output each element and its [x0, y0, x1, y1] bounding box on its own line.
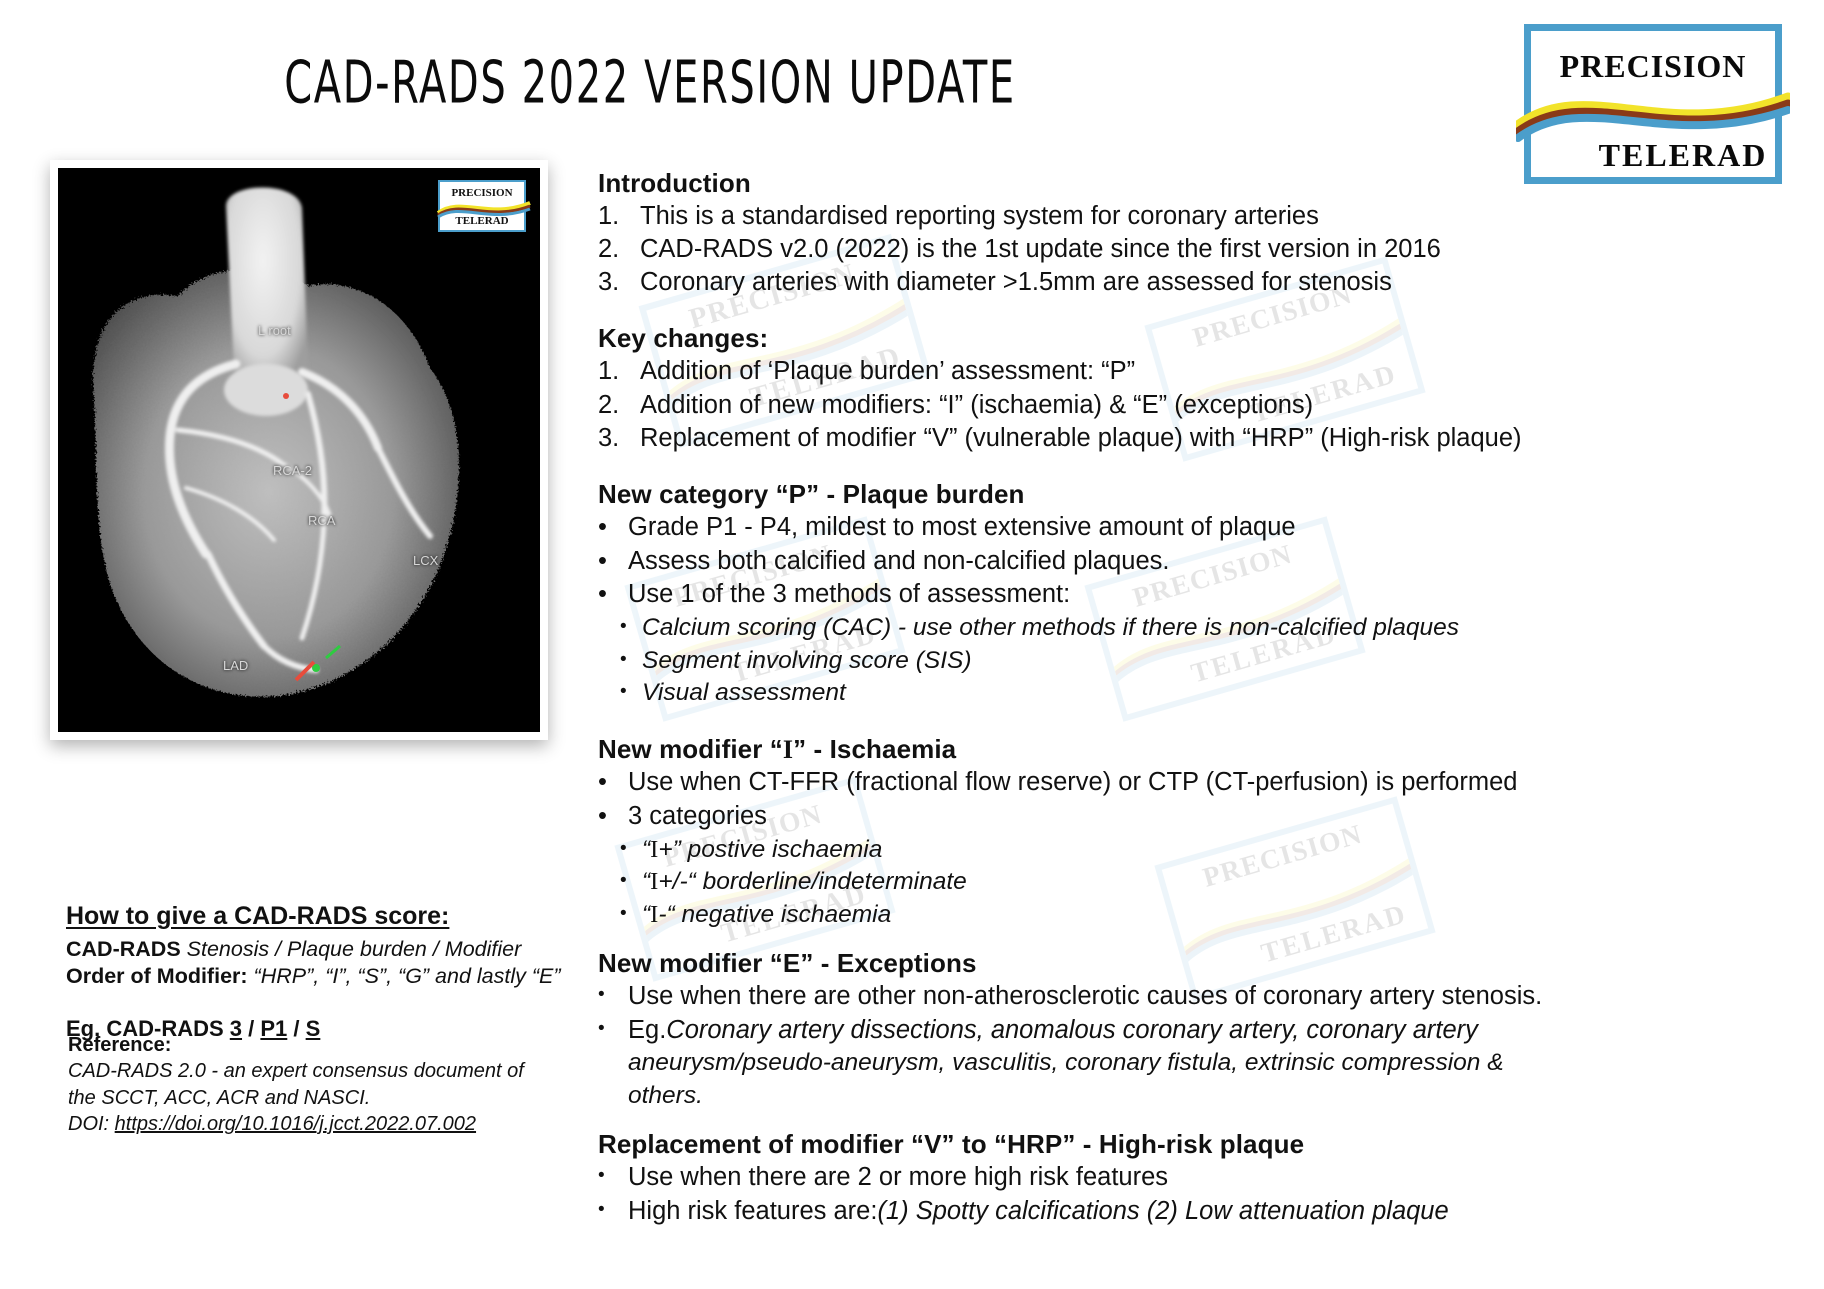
item-number: 1.: [598, 200, 640, 233]
item-text: 3 categories: [628, 800, 767, 834]
item-number: 1.: [598, 355, 640, 388]
list-item: •Use when there are 2 or more high risk …: [598, 1161, 1788, 1195]
ct-logo-badge: PRECISION TELERAD: [438, 180, 526, 232]
bullet-icon: •: [598, 1161, 628, 1191]
item-text: Addition of ‘Plaque burden’ assessment: …: [640, 355, 1135, 388]
item-text: Use when there are 2 or more high risk f…: [628, 1161, 1168, 1195]
sub-list-item: •“I-“ negative ischaemia: [598, 899, 1788, 932]
bullet-icon: •: [620, 645, 642, 674]
logo-top-text: PRECISION: [1524, 48, 1782, 85]
item-text: Replacement of modifier “V” (vulnerable …: [640, 422, 1522, 455]
list-item: 3.Replacement of modifier “V” (vulnerabl…: [598, 422, 1788, 455]
bullet-icon: •: [598, 511, 628, 545]
page-title: CAD-RADS 2022 VERSION UPDATE: [130, 48, 1170, 116]
reference-heading: Reference:: [68, 1032, 598, 1058]
list-item: •Use when there are other non-atheroscle…: [598, 980, 1788, 1014]
bullet-icon: •: [598, 980, 628, 1010]
item-text: Assess both calcified and non-calcified …: [628, 545, 1170, 579]
sub-list-item: •Visual assessment: [598, 677, 1788, 710]
sub-list-item: •“I+” postive ischaemia: [598, 834, 1788, 867]
item-text: Coronary arteries with diameter >1.5mm a…: [640, 266, 1392, 299]
list-item: •High risk features are: (1) Spotty calc…: [598, 1195, 1788, 1229]
item-text: Visual assessment: [642, 677, 846, 710]
bullet-icon: •: [620, 834, 642, 863]
heading-modifier-letter: I: [783, 735, 793, 764]
doi-label: DOI:: [68, 1113, 115, 1135]
sub-list-item: •Segment involving score (SIS): [598, 645, 1788, 678]
bullet-icon: •: [620, 866, 642, 895]
item-number: 2.: [598, 389, 640, 422]
bullet-icon: •: [620, 899, 642, 928]
item-text: Segment involving score (SIS): [642, 645, 972, 678]
item-text: CAD-RADS v2.0 (2022) is the 1st update s…: [640, 233, 1441, 266]
spacer: [598, 459, 1788, 479]
label-rca-2: RCA-2: [273, 463, 312, 478]
section-heading: Key changes:: [598, 323, 1788, 354]
item-text: Addition of new modifiers: “I” (ischaemi…: [640, 389, 1313, 422]
howto-line2-italic: “HRP”, “I”, “S”, “G” and lastly “E”: [254, 964, 561, 988]
label-lcx: LCX: [413, 553, 438, 568]
list-item: •Use when CT-FFR (fractional flow reserv…: [598, 766, 1788, 800]
list-item: 3.Coronary arteries with diameter >1.5mm…: [598, 266, 1788, 299]
list-item: •3 categories: [598, 800, 1788, 834]
ct-badge-bottom-text: TELERAD: [440, 215, 524, 227]
howto-line-1: CAD-RADS Stenosis / Plaque burden / Modi…: [66, 936, 586, 964]
list-item: •Eg. Coronary artery dissections, anomal…: [598, 1014, 1788, 1048]
item-continuation: aneurysm/pseudo-aneurysm, vasculitis, co…: [598, 1047, 1788, 1080]
section-heading: New category “P” - Plaque burden: [598, 479, 1788, 510]
doi-link[interactable]: https://doi.org/10.1016/j.jcct.2022.07.0…: [115, 1113, 476, 1135]
section-high-risk-plaque: Replacement of modifier “V” to “HRP” - H…: [598, 1129, 1788, 1228]
item-quote-open: “: [642, 834, 650, 867]
item-quote-open: “: [642, 899, 650, 932]
spacer: [598, 1117, 1788, 1129]
section-plaque-burden: New category “P” - Plaque burden •Grade …: [598, 479, 1788, 710]
label-lad: LAD: [223, 658, 248, 673]
bullet-icon: •: [620, 677, 642, 706]
reference-line-2: the SCCT, ACC, ACR and NASCI.: [68, 1085, 598, 1111]
section-heading: New modifier “E” - Exceptions: [598, 948, 1788, 979]
reference-block: Reference: CAD-RADS 2.0 - an expert cons…: [68, 1032, 598, 1138]
heading-post: ” - Ischaemia: [793, 734, 956, 764]
ct-scan-image: L root RCA-2 RCA LCX LAD PRECISION TELER…: [58, 168, 540, 732]
content-column: Introduction 1.This is a standardised re…: [598, 168, 1788, 1232]
item-label: Eg.: [628, 1014, 666, 1048]
bullet-icon: •: [598, 545, 628, 579]
item-text: +/-“ borderline/indeterminate: [658, 866, 966, 899]
item-number: 3.: [598, 266, 640, 299]
bullet-icon: •: [598, 1195, 628, 1225]
bullet-icon: •: [598, 800, 628, 834]
logo-wave-icon: [1516, 82, 1790, 144]
list-item: 2.CAD-RADS v2.0 (2022) is the 1st update…: [598, 233, 1788, 266]
item-label: High risk features are:: [628, 1195, 877, 1229]
item-text: Coronary artery dissections, anomalous c…: [666, 1014, 1478, 1048]
item-text: Use when CT-FFR (fractional flow reserve…: [628, 766, 1517, 800]
heart-ct-render: [58, 168, 540, 732]
item-text: -“ negative ischaemia: [658, 899, 891, 932]
list-item: •Grade P1 - P4, mildest to most extensiv…: [598, 511, 1788, 545]
section-key-changes: Key changes: 1.Addition of ‘Plaque burde…: [598, 323, 1788, 454]
item-text: Use when there are other non-atheroscler…: [628, 980, 1542, 1014]
spacer: [598, 303, 1788, 323]
list-item: •Use 1 of the 3 methods of assessment:: [598, 578, 1788, 612]
item-modifier-letter: I: [650, 866, 658, 899]
item-number: 3.: [598, 422, 640, 455]
bullet-icon: •: [598, 578, 628, 612]
item-text: (1) Spotty calcifications (2) Low attenu…: [877, 1195, 1448, 1229]
item-quote-open: “: [642, 866, 650, 899]
spacer: [598, 714, 1788, 734]
list-item: 1.This is a standardised reporting syste…: [598, 200, 1788, 233]
spacer: [598, 936, 1788, 948]
item-text: Use 1 of the 3 methods of assessment:: [628, 578, 1070, 612]
reference-doi: DOI: https://doi.org/10.1016/j.jcct.2022…: [68, 1111, 598, 1137]
list-item: 1.Addition of ‘Plaque burden’ assessment…: [598, 355, 1788, 388]
list-item: •Assess both calcified and non-calcified…: [598, 545, 1788, 579]
section-introduction: Introduction 1.This is a standardised re…: [598, 168, 1788, 299]
bullet-icon: •: [598, 766, 628, 800]
item-modifier-letter: I: [650, 899, 658, 932]
ct-scan-card: L root RCA-2 RCA LCX LAD PRECISION TELER…: [50, 160, 548, 740]
list-item: 2.Addition of new modifiers: “I” (ischae…: [598, 389, 1788, 422]
item-text: +” postive ischaemia: [658, 834, 882, 867]
reference-line-1: CAD-RADS 2.0 - an expert consensus docum…: [68, 1058, 598, 1084]
howto-line1-italic: Stenosis / Plaque burden / Modifier: [187, 937, 522, 961]
howto-line2-bold: Order of Modifier:: [66, 964, 254, 988]
bullet-icon: •: [598, 1014, 628, 1044]
section-heading: Replacement of modifier “V” to “HRP” - H…: [598, 1129, 1788, 1160]
section-heading: New modifier “I” - Ischaemia: [598, 734, 1788, 765]
logo-bottom-text: TELERAD: [1524, 137, 1782, 174]
item-text: Calcium scoring (CAC) - use other method…: [642, 612, 1459, 645]
precision-telerad-logo: PRECISION TELERAD: [1524, 24, 1782, 184]
item-continuation: others.: [598, 1080, 1788, 1113]
heading-pre: New modifier “: [598, 734, 783, 764]
bullet-icon: •: [620, 612, 642, 641]
howto-line-2: Order of Modifier: “HRP”, “I”, “S”, “G” …: [66, 963, 586, 991]
sub-list-item: •Calcium scoring (CAC) - use other metho…: [598, 612, 1788, 645]
howto-heading: How to give a CAD-RADS score:: [66, 900, 586, 933]
section-exceptions: New modifier “E” - Exceptions •Use when …: [598, 948, 1788, 1113]
item-text: This is a standardised reporting system …: [640, 200, 1319, 233]
howto-line1-bold: CAD-RADS: [66, 937, 187, 961]
item-text: Grade P1 - P4, mildest to most extensive…: [628, 511, 1296, 545]
sub-list-item: •“I+/-“ borderline/indeterminate: [598, 866, 1788, 899]
item-modifier-letter: I: [650, 834, 658, 867]
item-number: 2.: [598, 233, 640, 266]
poster-page: PRECISION TELERAD PRECISION TELERAD: [0, 0, 1824, 1289]
section-ischaemia: New modifier “I” - Ischaemia •Use when C…: [598, 734, 1788, 932]
label-l-root: L root: [258, 323, 291, 338]
label-rca: RCA: [308, 513, 335, 528]
